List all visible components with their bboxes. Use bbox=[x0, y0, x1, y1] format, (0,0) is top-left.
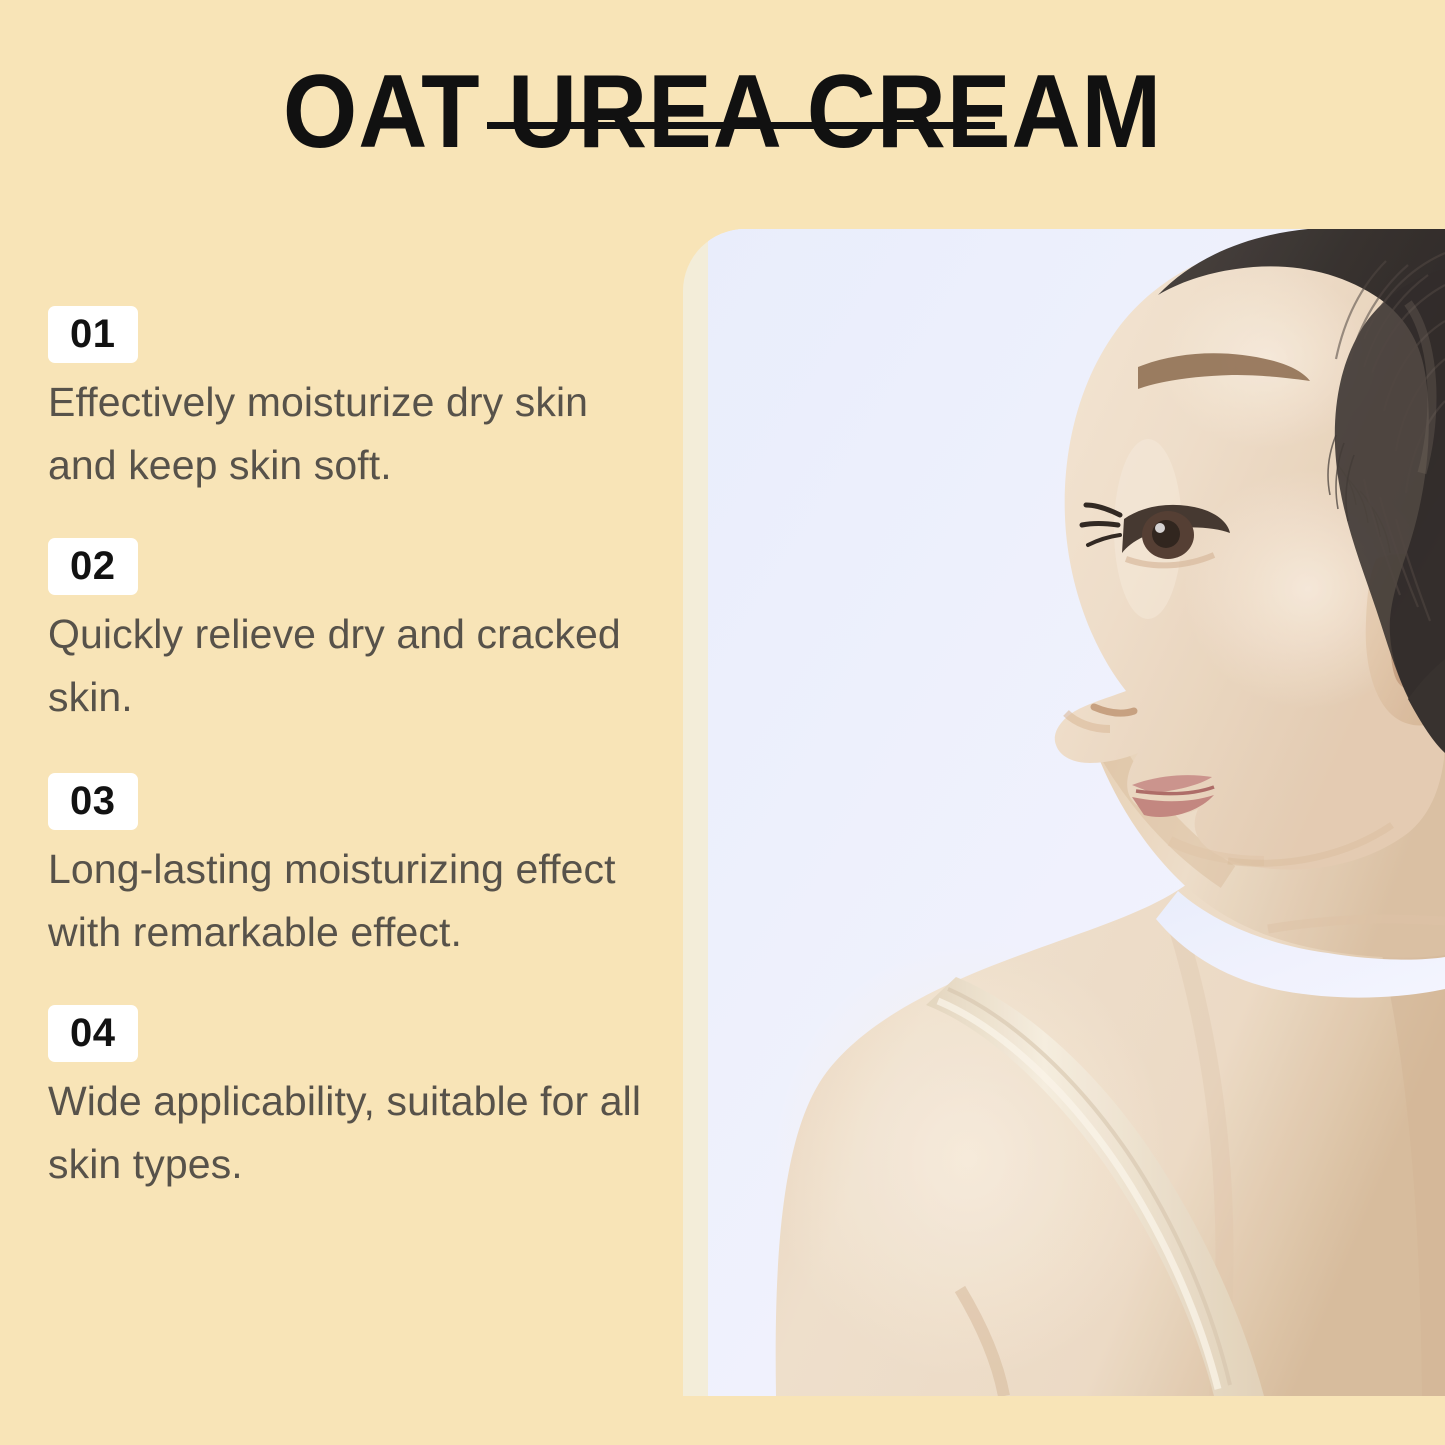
photo-image-area bbox=[708, 229, 1445, 1396]
feature-description: Wide applicability, suitable for all ski… bbox=[48, 1070, 648, 1195]
status-badge: 01 bbox=[48, 306, 138, 363]
list-item: 03 Long-lasting moisturizing effect with… bbox=[48, 773, 668, 963]
poster-canvas: OAT UREA CREAM 01 Effectively moisturize… bbox=[0, 0, 1445, 1445]
product-photo-panel bbox=[683, 229, 1445, 1396]
model-profile-portrait-image bbox=[708, 229, 1445, 1396]
feature-description: Quickly relieve dry and cracked skin. bbox=[48, 603, 648, 728]
list-item: 04 Wide applicability, suitable for all … bbox=[48, 1005, 668, 1195]
status-badge: 03 bbox=[48, 773, 138, 830]
status-badge: 04 bbox=[48, 1005, 138, 1062]
list-item: 02 Quickly relieve dry and cracked skin. bbox=[48, 538, 668, 728]
feature-description: Long-lasting moisturizing effect with re… bbox=[48, 838, 648, 963]
title-block: OAT UREA CREAM bbox=[0, 58, 1445, 167]
list-item: 01 Effectively moisturize dry skin and k… bbox=[48, 306, 668, 496]
feature-description: Effectively moisturize dry skin and keep… bbox=[48, 371, 648, 496]
page-title: OAT UREA CREAM bbox=[58, 58, 1387, 167]
status-badge: 02 bbox=[48, 538, 138, 595]
title-underline-divider bbox=[487, 122, 995, 129]
feature-list: 01 Effectively moisturize dry skin and k… bbox=[48, 306, 668, 1196]
